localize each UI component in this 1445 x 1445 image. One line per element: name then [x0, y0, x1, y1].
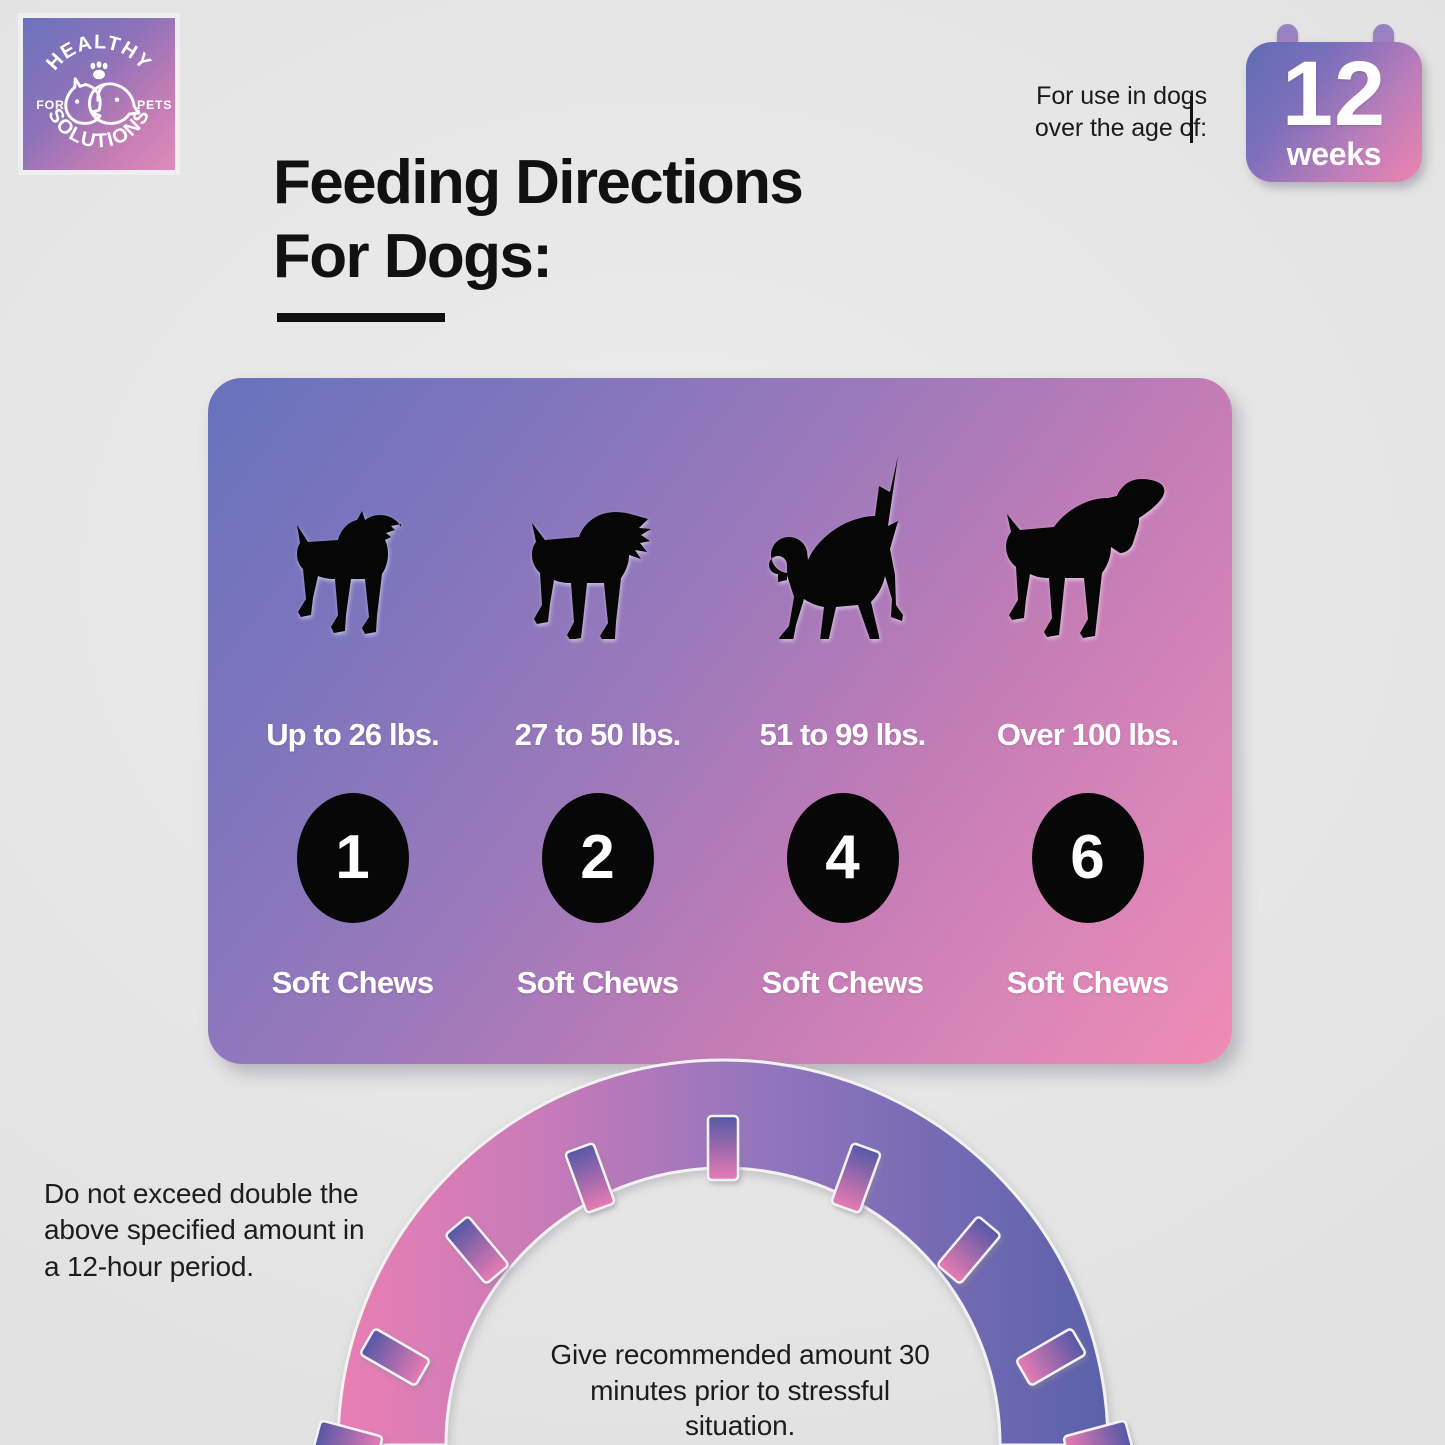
dosage-grid: Up to 26 lbs. 1 Soft Chews 27 to 50 lbs.…	[208, 378, 1232, 1064]
svg-text:HEALTHY: HEALTHY	[42, 31, 156, 74]
terrier-dog-icon	[273, 487, 433, 639]
calendar-unit: weeks	[1246, 138, 1422, 170]
dose-unit-label: Soft Chews	[517, 965, 679, 1001]
dog-silhouette-xlarge	[991, 434, 1185, 639]
feeding-directions-infographic: HEALTHY SOLUTIONS	[0, 0, 1445, 1445]
shepherd-dog-icon	[748, 454, 938, 639]
timing-instruction-caption: Give recommended amount 30 minutes prior…	[545, 1337, 935, 1444]
dosage-column: Over 100 lbs. 6 Soft Chews	[965, 434, 1210, 1020]
weight-range-label: Up to 26 lbs.	[266, 717, 439, 753]
dose-count-badge: 4	[787, 793, 899, 923]
dose-count-badge: 1	[297, 793, 409, 923]
calendar-badge: 12 weeks	[1243, 22, 1425, 182]
dosage-column: 51 to 99 lbs. 4 Soft Chews	[720, 434, 965, 1020]
dose-count-badge: 6	[1032, 793, 1144, 923]
title-underline-rule	[277, 313, 445, 322]
dose-unit-label: Soft Chews	[272, 965, 434, 1001]
paw-print-icon	[90, 61, 107, 79]
dog-silhouette-small	[273, 434, 433, 639]
weight-range-label: 51 to 99 lbs.	[760, 717, 926, 753]
weight-range-label: 27 to 50 lbs.	[515, 717, 681, 753]
dog-silhouette-large	[748, 434, 938, 639]
brand-logo: HEALTHY SOLUTIONS	[18, 13, 180, 175]
dose-unit-label: Soft Chews	[1007, 965, 1169, 1001]
logo-for-text: FOR	[36, 98, 64, 112]
calendar-body: 12 weeks	[1246, 42, 1422, 182]
dog-silhouette-medium	[508, 434, 688, 639]
dosage-card: Up to 26 lbs. 1 Soft Chews 27 to 50 lbs.…	[208, 378, 1232, 1064]
header-divider	[1190, 96, 1193, 143]
weight-range-label: Over 100 lbs.	[997, 717, 1178, 753]
pitbull-dog-icon	[508, 477, 688, 639]
calendar-number: 12	[1246, 48, 1422, 140]
logo-pets-text: PETS	[137, 98, 172, 112]
brand-logo-mark: HEALTHY SOLUTIONS	[23, 18, 175, 170]
dosage-column: Up to 26 lbs. 1 Soft Chews	[230, 434, 475, 1020]
dose-unit-label: Soft Chews	[762, 965, 924, 1001]
page-title: Feeding Directions For Dogs:	[273, 146, 802, 294]
age-requirement-label: For use in dogs over the age of:	[1035, 80, 1207, 144]
dose-count-badge: 2	[542, 793, 654, 923]
mastiff-dog-icon	[991, 469, 1185, 639]
dosage-column: 27 to 50 lbs. 2 Soft Chews	[475, 434, 720, 1020]
